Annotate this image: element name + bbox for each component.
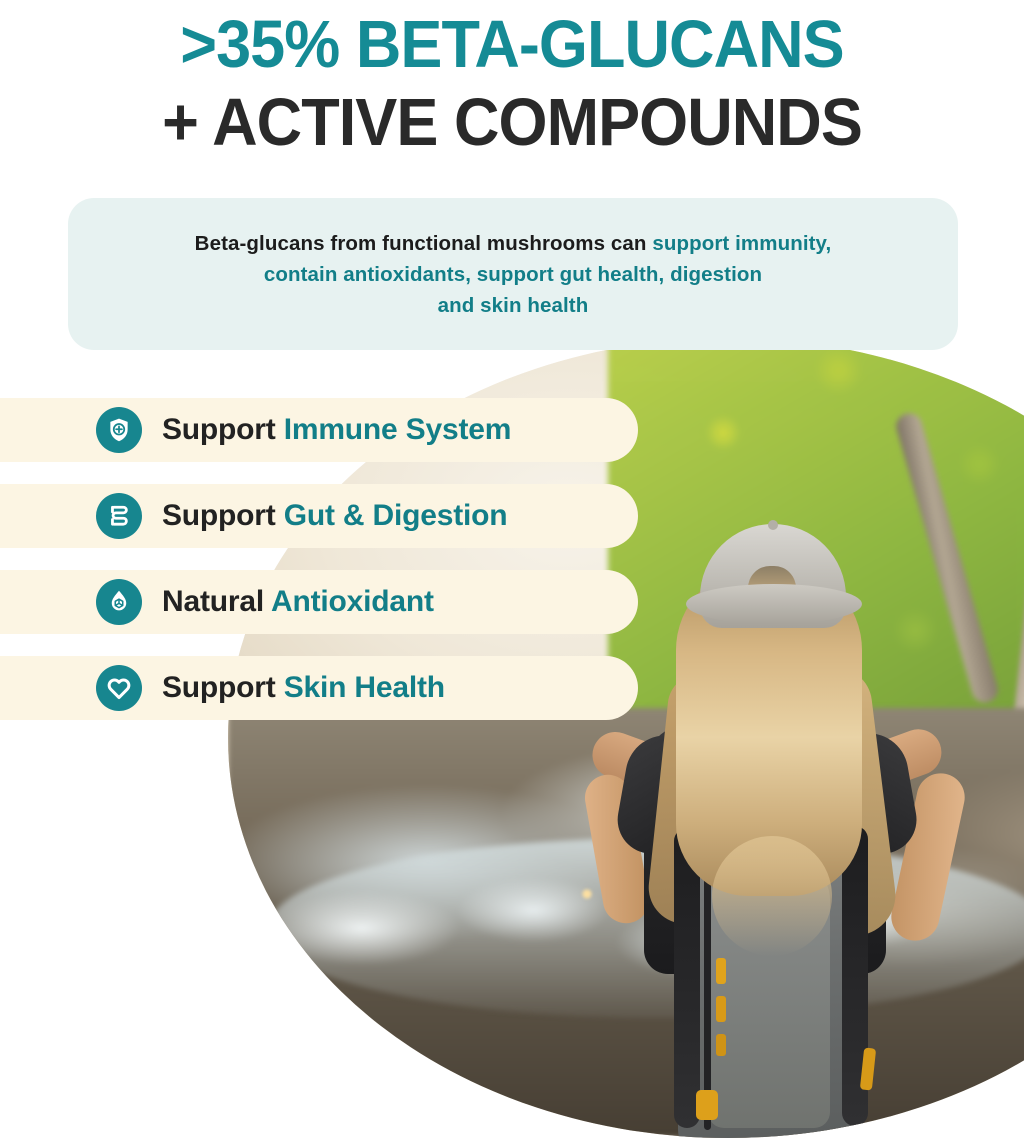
headline-line-2: + ACTIVE COMPOUNDS bbox=[31, 84, 994, 162]
hiker-cap-brim bbox=[686, 584, 862, 624]
description-line-2: contain antioxidants, support gut health… bbox=[264, 259, 762, 290]
benefit-prefix: Support bbox=[162, 671, 284, 704]
headline-line-1: >35% BETA-GLUCANS bbox=[31, 0, 994, 84]
benefit-row-gut-digestion[interactable]: Support Gut & Digestion bbox=[0, 484, 638, 548]
shield-plus-icon bbox=[96, 407, 142, 453]
hiker-hair-ends bbox=[712, 836, 832, 956]
description-line-1-teal: support immunity, bbox=[652, 232, 831, 255]
hiker-cap-button bbox=[768, 520, 778, 530]
description-line-1: Beta-glucans from functional mushrooms c… bbox=[195, 228, 832, 259]
backpack-accent-1 bbox=[716, 958, 726, 984]
description-box: Beta-glucans from functional mushrooms c… bbox=[68, 198, 958, 350]
benefit-label-skin-health: Support Skin Health bbox=[162, 671, 445, 705]
benefit-prefix: Natural bbox=[162, 585, 271, 618]
benefit-highlight: Immune System bbox=[284, 413, 511, 446]
benefit-label-antioxidant: Natural Antioxidant bbox=[162, 585, 434, 619]
backpack-accent-2 bbox=[716, 996, 726, 1022]
description-line-1-dark: Beta-glucans from functional mushrooms c… bbox=[195, 232, 653, 255]
headline-block: >35% BETA-GLUCANS + ACTIVE COMPOUNDS bbox=[31, 0, 994, 162]
benefit-highlight: Skin Health bbox=[284, 671, 445, 704]
intestine-icon bbox=[96, 493, 142, 539]
benefit-row-skin-health[interactable]: Support Skin Health bbox=[0, 656, 638, 720]
backpack-accent-3 bbox=[716, 1034, 726, 1056]
benefit-highlight: Antioxidant bbox=[271, 585, 434, 618]
backpack-accent-5 bbox=[696, 1090, 718, 1120]
benefit-prefix: Support bbox=[162, 413, 284, 446]
benefit-highlight: Gut & Digestion bbox=[284, 499, 508, 532]
benefit-label-immune-system: Support Immune System bbox=[162, 413, 511, 447]
heart-icon bbox=[96, 665, 142, 711]
hiker-backpack-zipper bbox=[704, 850, 711, 1130]
benefit-label-gut-digestion: Support Gut & Digestion bbox=[162, 499, 507, 533]
benefit-prefix: Support bbox=[162, 499, 284, 532]
benefit-row-antioxidant[interactable]: Natural Antioxidant bbox=[0, 570, 638, 634]
description-line-3: and skin health bbox=[438, 290, 589, 321]
benefit-row-immune-system[interactable]: Support Immune System bbox=[0, 398, 638, 462]
benefits-list: Support Immune System Support Gut & Dige… bbox=[0, 398, 660, 742]
droplet-cube-icon bbox=[96, 579, 142, 625]
